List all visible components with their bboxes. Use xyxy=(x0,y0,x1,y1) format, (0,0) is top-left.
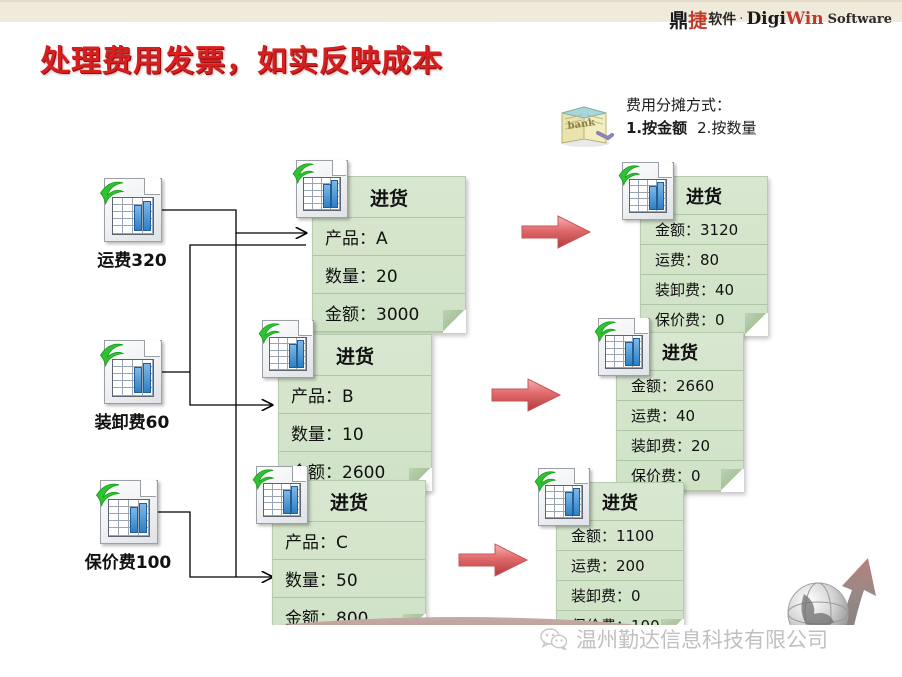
fee-item-insurance[interactable]: 保价费100 xyxy=(68,480,188,573)
wechat-icon xyxy=(540,628,568,650)
company-watermark: 温州勤达信息科技有限公司 xyxy=(540,624,828,654)
logo-char-jie: 捷 xyxy=(688,10,707,32)
fee-label: 保价费100 xyxy=(68,548,188,573)
allocation-note-heading: 费用分摊方式： xyxy=(626,95,756,115)
excel-document-icon xyxy=(104,178,160,240)
right-arrow-icon xyxy=(455,540,531,580)
fee-label: 运费320 xyxy=(72,246,192,271)
logo-chinese-software: 软件 xyxy=(708,9,736,29)
fee-label: 装卸费60 xyxy=(72,408,192,433)
allocation-note-text: 费用分摊方式： 1.按金额2.按数量 xyxy=(626,95,756,139)
card-row-loading: 装卸费：20 xyxy=(617,431,743,461)
slide-title: 处理费用发票，如实反映成本 xyxy=(40,36,443,80)
excel-document-icon xyxy=(104,340,160,402)
excel-document-icon xyxy=(262,320,312,376)
allocation-option-by-amount: 1.按金额 xyxy=(626,119,687,137)
card-row-freight: 运费：80 xyxy=(641,245,767,275)
logo-win: Win xyxy=(786,9,824,29)
card-row-product: 产品：C xyxy=(273,522,425,560)
right-arrow-icon xyxy=(488,375,564,415)
logo-separator: · xyxy=(739,12,743,27)
excel-document-icon xyxy=(256,466,306,522)
card-row-quantity: 数量：50 xyxy=(273,560,425,598)
card-row-freight: 运费：200 xyxy=(557,551,683,581)
card-row-freight: 运费：40 xyxy=(617,401,743,431)
allocation-note-options: 1.按金额2.按数量 xyxy=(626,117,756,139)
top-rule xyxy=(0,0,902,2)
card-row-loading: 装卸费：40 xyxy=(641,275,767,305)
excel-document-icon xyxy=(538,468,588,524)
bank-ledger-icon: bank xyxy=(556,97,616,149)
card-row-quantity: 数量：20 xyxy=(313,256,465,294)
excel-document-icon xyxy=(598,318,648,374)
logo-digi: Digi xyxy=(746,9,786,29)
card-row-product: 产品：B xyxy=(279,376,431,414)
excel-document-icon xyxy=(296,160,346,216)
excel-document-icon xyxy=(100,480,156,542)
fee-item-freight[interactable]: 运费320 xyxy=(72,178,192,271)
logo-chinese-name: 鼎捷 xyxy=(669,6,707,33)
card-row-product: 产品：A xyxy=(313,218,465,256)
logo-char-ding: 鼎 xyxy=(669,10,688,32)
card-row-loading: 装卸费：0 xyxy=(557,581,683,611)
company-name: 温州勤达信息科技有限公司 xyxy=(576,624,828,654)
digiwin-logo: 鼎捷 软件 · Digi Win Software xyxy=(669,5,892,33)
right-arrow-icon xyxy=(518,212,594,252)
allocation-method-note: bank 费用分摊方式： 1.按金额2.按数量 xyxy=(556,93,756,149)
allocation-option-by-quantity: 2.按数量 xyxy=(697,119,756,137)
fee-item-loading[interactable]: 装卸费60 xyxy=(72,340,192,433)
logo-software: Software xyxy=(828,12,892,27)
excel-document-icon xyxy=(622,162,672,218)
card-row-quantity: 数量：10 xyxy=(279,414,431,452)
slide-canvas: 鼎捷 软件 · Digi Win Software 处理费用发票，如实反映成本 … xyxy=(0,0,902,677)
